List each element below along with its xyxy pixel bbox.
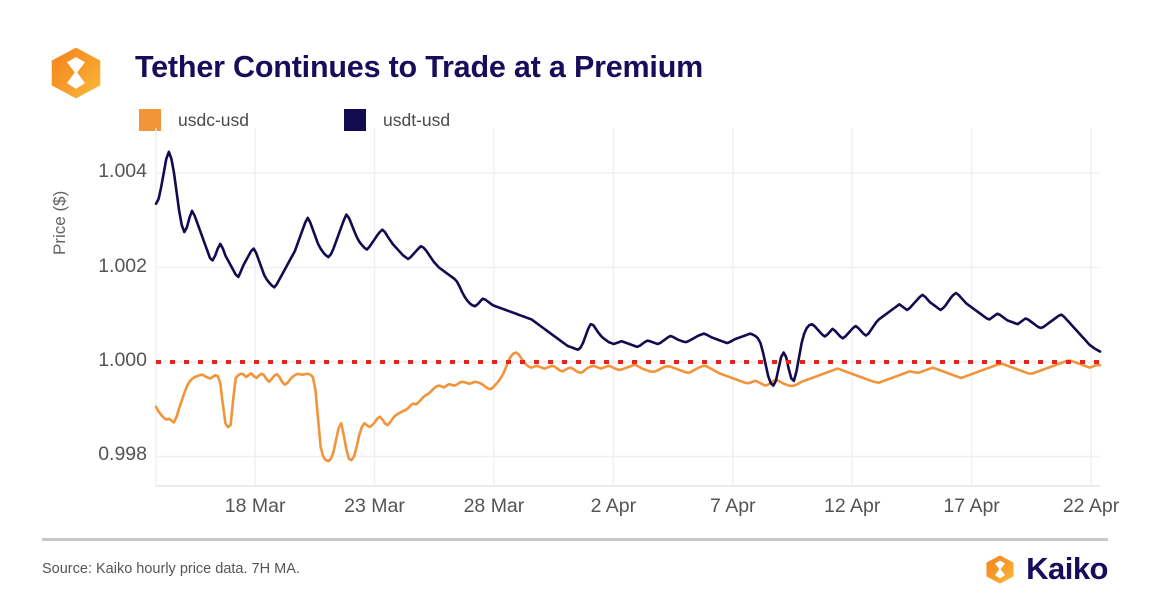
legend-swatch-usdt <box>344 109 366 131</box>
y-axis-tick-label: 0.998 <box>55 443 147 466</box>
page-title: Tether Continues to Trade at a Premium <box>135 50 703 85</box>
y-axis-tick-label: 1.000 <box>55 349 147 372</box>
legend-label-usdc: usdc-usd <box>178 110 249 131</box>
series-line-usdc-usd <box>156 353 1100 462</box>
legend-item-usdc[interactable]: usdc-usd <box>139 109 249 131</box>
x-axis-tick-label: 12 Apr <box>824 495 880 518</box>
x-axis-tick-label: 17 Apr <box>943 495 999 518</box>
kaiko-hexagon-icon <box>47 47 105 99</box>
y-axis-tick-label: 1.002 <box>55 255 147 278</box>
legend-label-usdt: usdt-usd <box>383 110 450 131</box>
x-axis-tick-label: 18 Mar <box>225 495 286 518</box>
kaiko-hexagon-icon <box>984 555 1016 584</box>
x-axis-tick-label: 22 Apr <box>1063 495 1119 518</box>
x-axis-tick-label: 2 Apr <box>591 495 637 518</box>
footer-brand: Kaiko <box>984 549 1108 589</box>
series-line-usdt-usd <box>156 152 1100 386</box>
chart-legend: usdc-usd usdt-usd <box>139 105 545 135</box>
legend-item-usdt[interactable]: usdt-usd <box>344 109 450 131</box>
source-note: Source: Kaiko hourly price data. 7H MA. <box>42 561 300 577</box>
y-axis-tick-label: 1.004 <box>55 160 147 183</box>
x-axis-tick-label: 7 Apr <box>710 495 756 518</box>
x-axis-tick-label: 28 Mar <box>464 495 525 518</box>
legend-swatch-usdc <box>139 109 161 131</box>
footer-divider <box>42 538 1108 541</box>
y-axis-title: Price ($) <box>50 191 70 255</box>
chart-header: Tether Continues to Trade at a Premium <box>0 0 1150 100</box>
chart-page: Tether Continues to Trade at a Premium u… <box>0 0 1150 612</box>
x-axis-tick-label: 23 Mar <box>344 495 405 518</box>
brand-wordmark: Kaiko <box>1026 551 1108 587</box>
